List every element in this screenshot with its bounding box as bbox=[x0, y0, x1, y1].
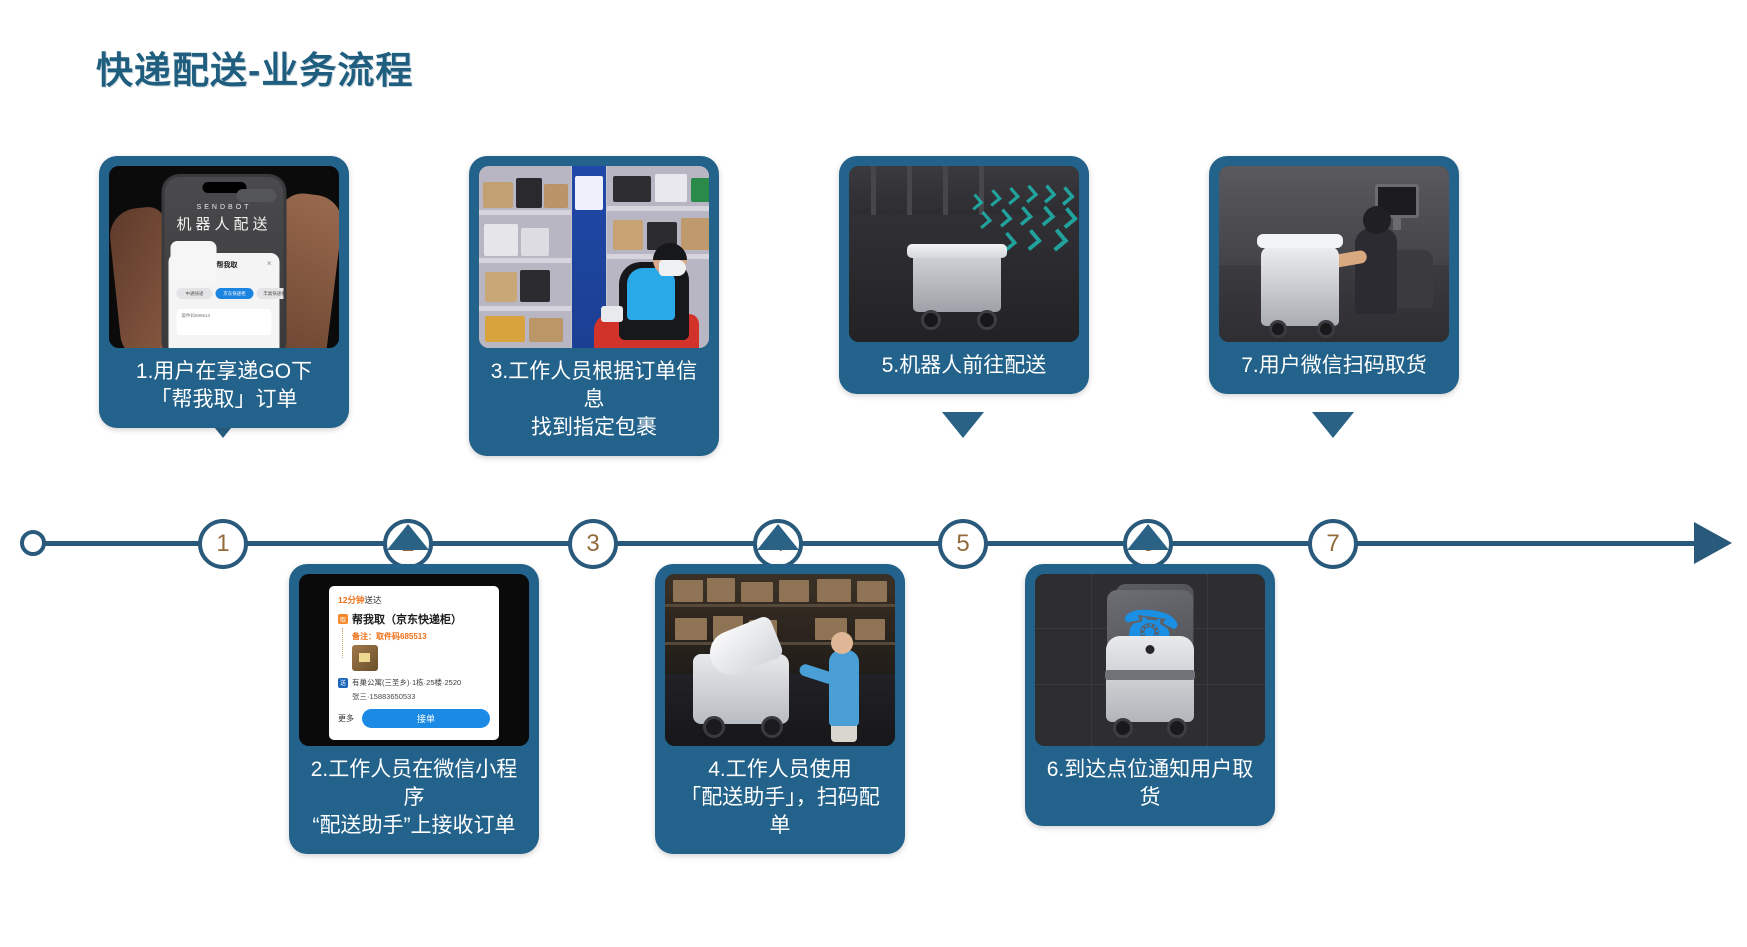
eta-suffix: 送达 bbox=[364, 595, 381, 605]
connector-triangle-6 bbox=[1127, 524, 1169, 550]
more-button[interactable]: 更多 bbox=[338, 713, 354, 724]
chip-option-0[interactable]: 中通快递 bbox=[177, 288, 213, 299]
pickup-code-field[interactable]: 取件码685513 bbox=[177, 309, 272, 335]
timeline-arrow-right-icon bbox=[1694, 522, 1732, 564]
step-5-image bbox=[849, 166, 1079, 342]
step-7-caption: 7.用户微信扫码取货 bbox=[1219, 342, 1449, 394]
step-card-5[interactable]: 5.机器人前往配送 bbox=[839, 156, 1089, 394]
step-2-image: 12分钟送达 取 帮我取（京东快递柜） 备注：取件码685513 送 有巢公寓(… bbox=[299, 574, 529, 746]
order-dotted-line bbox=[342, 628, 343, 658]
step-4-caption: 4.工作人员使用 「配送助手」，扫码配单 bbox=[665, 746, 895, 854]
step-2-caption: 2.工作人员在微信小程序 “配送助手”上接收订单 bbox=[299, 746, 529, 854]
sendbot-brand: SENDBOT bbox=[165, 204, 284, 211]
step-card-4[interactable]: 4.工作人员使用 「配送助手」，扫码配单 bbox=[655, 564, 905, 854]
connector-triangle-4 bbox=[757, 524, 799, 550]
order-title: 帮我取（京东快递柜） bbox=[352, 611, 462, 627]
step-card-2[interactable]: 12分钟送达 取 帮我取（京东快递柜） 备注：取件码685513 送 有巢公寓(… bbox=[289, 564, 539, 854]
step-5-caption: 5.机器人前往配送 bbox=[849, 342, 1079, 394]
eta-minutes: 12分钟 bbox=[338, 595, 364, 605]
step-6-image: ☎ bbox=[1035, 574, 1265, 746]
accept-order-button[interactable]: 接单 bbox=[362, 709, 490, 728]
step-7-image bbox=[1219, 166, 1449, 342]
chip-option-1[interactable]: 京东快递柜 bbox=[216, 288, 254, 299]
step-6-caption: 6.到达点位通知用户取货 bbox=[1035, 746, 1265, 826]
order-tag-icon: 取 bbox=[338, 614, 348, 624]
step-card-1[interactable]: SENDBOT 机器人配送 帮我取 × 帮我取 中通快递 京东快递柜 丰巢快递柜… bbox=[99, 156, 349, 428]
sheet-title: 帮我取 bbox=[217, 260, 238, 270]
close-icon[interactable]: × bbox=[267, 259, 272, 268]
package-thumbnail bbox=[352, 645, 378, 671]
timeline-node-3[interactable]: 3 bbox=[568, 519, 618, 569]
chip-option-2[interactable]: 丰巢快递柜 bbox=[257, 288, 287, 299]
connector-triangle-7 bbox=[1312, 412, 1354, 438]
contact-info: 张三·15883650533 bbox=[352, 691, 490, 702]
order-note: 备注：取件码685513 bbox=[352, 631, 490, 642]
step-4-image bbox=[665, 574, 895, 746]
timeline-start-circle-icon bbox=[20, 530, 46, 556]
send-tag-icon: 送 bbox=[338, 678, 348, 688]
page-title: 快递配送-业务流程 bbox=[96, 40, 413, 94]
step-card-3[interactable]: 3.工作人员根据订单信息 找到指定包裹 bbox=[469, 156, 719, 456]
timeline-node-7[interactable]: 7 bbox=[1308, 519, 1358, 569]
delivery-address: 有巢公寓(三圣乡)·1栋·25楼·2520 bbox=[352, 677, 461, 688]
step-card-6[interactable]: ☎ 6.到达点位通知用户取货 bbox=[1025, 564, 1275, 826]
flow-diagram-canvas: 快递配送-业务流程 1 2 3 4 5 6 7 SENDBOT 机器人配送 bbox=[0, 0, 1747, 947]
step-1-image: SENDBOT 机器人配送 帮我取 × 帮我取 中通快递 京东快递柜 丰巢快递柜… bbox=[109, 166, 339, 348]
connector-triangle-5 bbox=[942, 412, 984, 438]
step-card-7[interactable]: 7.用户微信扫码取货 bbox=[1209, 156, 1459, 394]
step-1-caption: 1.用户在享递GO下 「帮我取」订单 bbox=[109, 348, 339, 428]
timeline-node-1[interactable]: 1 bbox=[198, 519, 248, 569]
step-3-image bbox=[479, 166, 709, 348]
eta-label: 12分钟送达 bbox=[338, 594, 490, 606]
timeline-axis bbox=[31, 541, 1716, 546]
connector-triangle-2 bbox=[387, 524, 429, 550]
step-3-caption: 3.工作人员根据订单信息 找到指定包裹 bbox=[479, 348, 709, 456]
timeline-node-5[interactable]: 5 bbox=[938, 519, 988, 569]
sendbot-app-title: 机器人配送 bbox=[165, 213, 284, 234]
